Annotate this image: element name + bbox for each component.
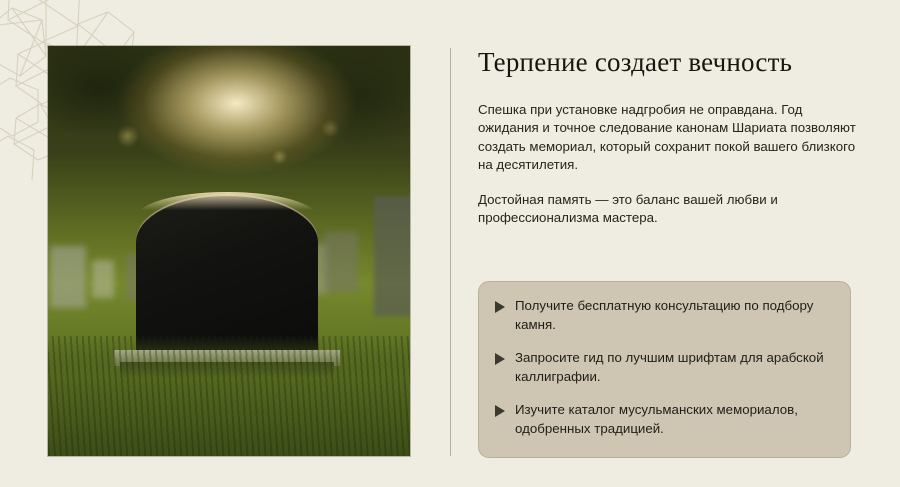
page-title: Терпение создает вечность — [478, 44, 856, 81]
triangle-right-icon — [495, 405, 505, 417]
content-column: Терпение создает вечность Спешка при уст… — [478, 44, 856, 227]
list-item[interactable]: Изучите каталог мусульманских мемориалов… — [495, 401, 832, 438]
foreground-grass — [48, 336, 410, 456]
cta-callout-box: Получите бесплатную консультацию по подб… — [478, 281, 851, 458]
background-headstone — [92, 260, 114, 298]
list-item-label: Получите бесплатную консультацию по подб… — [515, 297, 832, 334]
list-item[interactable]: Запросите гид по лучшим шрифтам для араб… — [495, 349, 832, 386]
triangle-right-icon — [495, 301, 505, 313]
list-item-label: Запросите гид по лучшим шрифтам для араб… — [515, 349, 832, 386]
background-headstone — [50, 246, 86, 308]
column-divider — [450, 48, 451, 456]
background-headstone — [374, 196, 410, 316]
body-paragraph-2: Достойная память — это баланс вашей любв… — [478, 191, 856, 228]
headstone-photo — [48, 46, 410, 456]
body-paragraph-1: Спешка при установке надгробия не оправд… — [478, 101, 856, 175]
list-item[interactable]: Получите бесплатную консультацию по подб… — [495, 297, 832, 334]
list-item-label: Изучите каталог мусульманских мемориалов… — [515, 401, 832, 438]
triangle-right-icon — [495, 353, 505, 365]
slide: Терпение создает вечность Спешка при уст… — [0, 0, 900, 487]
background-headstone — [324, 232, 358, 292]
